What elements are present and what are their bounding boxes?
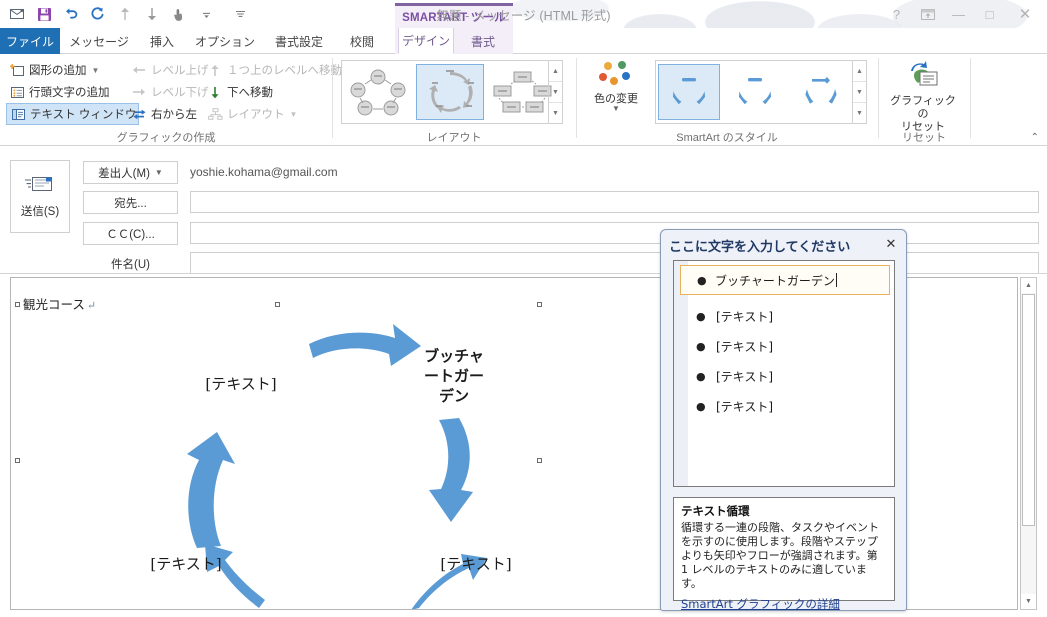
text-pane-item-1[interactable]: ● ブッチャートガーデン xyxy=(680,265,890,295)
layout-basic-cycle[interactable] xyxy=(344,64,412,120)
minimize-button[interactable]: — xyxy=(943,1,974,27)
move-down-button[interactable]: 下へ移動 xyxy=(204,81,344,103)
move-down-label: 下へ移動 xyxy=(227,84,273,100)
scrollbar-thumb[interactable] xyxy=(1022,294,1035,526)
description-body: 循環する一連の段階、タスクやイベントを示すのに使用します。段階やステップよりも矢… xyxy=(681,521,887,591)
move-down-icon xyxy=(206,83,224,101)
smartart-node-1-line1: ブッチャ xyxy=(399,346,509,366)
right-to-left-button[interactable]: 右から左 xyxy=(128,103,211,125)
selection-handle[interactable] xyxy=(275,302,280,307)
smartart-help-link[interactable]: SmartArt グラフィックの詳細 xyxy=(681,596,840,612)
layout-block-cycle[interactable] xyxy=(488,64,556,120)
text-pane-item-5-label: [テキスト] xyxy=(716,398,773,415)
move-up-label: １つ上のレベルへ移動 xyxy=(227,62,342,78)
text-cursor xyxy=(836,273,837,287)
demote-button: レベル下げ xyxy=(128,81,211,103)
group-label-reset: リセット xyxy=(879,129,969,145)
group-label-create-graphic: グラフィックの作成 xyxy=(0,129,332,145)
text-pane-button[interactable]: テキスト ウィンドウ xyxy=(6,103,139,125)
send-button-label: 送信(S) xyxy=(21,203,59,219)
text-pane-item-2-label: [テキスト] xyxy=(716,308,773,325)
gallery-more-icon[interactable]: ▼ xyxy=(549,103,562,123)
add-bullet-icon xyxy=(8,83,26,101)
move-up-button: １つ上のレベルへ移動 xyxy=(204,59,344,81)
gallery-scroll-up-icon[interactable]: ▲ xyxy=(853,61,866,82)
outlook-compose-window: SMARTART ツール xyxy=(0,0,1047,617)
to-button-label: 宛先... xyxy=(114,195,147,211)
description-title: テキスト循環 xyxy=(681,503,887,519)
touch-mode-icon[interactable] xyxy=(166,2,192,26)
from-value: yoshie.kohama@gmail.com xyxy=(190,161,338,183)
add-shape-button[interactable]: 図形の追加 ▼ xyxy=(6,59,139,81)
gallery-scroll-up-icon[interactable]: ▲ xyxy=(549,61,562,82)
demote-icon xyxy=(130,83,148,101)
reset-graphic-icon xyxy=(905,79,941,93)
chevron-down-icon[interactable]: ▼ xyxy=(585,105,647,113)
smartart-node-1-line2: ートガー xyxy=(399,366,509,386)
document-scrollbar[interactable]: ▲ ▼ xyxy=(1020,277,1037,610)
from-button[interactable]: 差出人(M) ▼ xyxy=(83,161,178,184)
title-bar: SMARTART ツール xyxy=(0,0,1047,28)
contextual-tools-banner: SMARTART ツール xyxy=(395,3,513,28)
layout-gallery-scrollbar[interactable]: ▲ ▼ ▼ xyxy=(548,61,562,123)
tab-format-text[interactable]: 書式設定 xyxy=(266,28,332,54)
style-subtle-effect[interactable] xyxy=(724,64,786,120)
window-controls: ? — □ ✕ xyxy=(881,0,1045,28)
layout-text-cycle[interactable] xyxy=(416,64,484,120)
tab-design[interactable]: デザイン xyxy=(398,28,454,54)
undo-icon[interactable] xyxy=(58,2,84,26)
maximize-button[interactable]: □ xyxy=(974,1,1005,27)
tab-format[interactable]: 書式 xyxy=(458,28,508,54)
color-palette-icon xyxy=(596,79,636,93)
bullet-icon: ● xyxy=(696,340,706,353)
smartart-node-1[interactable]: ブッチャ ートガー デン xyxy=(399,346,509,406)
collapse-ribbon-button[interactable]: ⌃ xyxy=(1031,132,1039,143)
reset-graphic-label-line1: グラフィックの xyxy=(885,95,961,121)
close-icon[interactable]: ✕ xyxy=(882,235,900,253)
tab-message[interactable]: メッセージ xyxy=(66,28,132,54)
promote-button: レベル上げ xyxy=(128,59,211,81)
tab-review[interactable]: 校閲 xyxy=(340,28,384,54)
smartart-node-5[interactable]: [テキスト] xyxy=(186,373,296,394)
to-input[interactable] xyxy=(190,191,1039,213)
layout-label: レイアウト xyxy=(227,106,285,122)
selection-handle[interactable] xyxy=(15,302,20,307)
send-envelope-icon xyxy=(25,174,55,197)
text-pane-item-5[interactable]: ● [テキスト] xyxy=(674,391,894,421)
layout-icon xyxy=(206,105,224,123)
text-pane-item-1-label: ブッチャートガーデン xyxy=(715,272,835,289)
text-pane-label: テキスト ウィンドウ xyxy=(30,106,136,122)
text-pane-item-4[interactable]: ● [テキスト] xyxy=(674,361,894,391)
subject-label: 件名(U) xyxy=(83,252,178,275)
smartart-node-4[interactable]: [テキスト] xyxy=(131,553,241,574)
bullet-icon: ● xyxy=(696,400,706,413)
tab-file[interactable]: ファイル xyxy=(0,28,60,54)
smartart-node-1-line3: デン xyxy=(399,386,509,406)
text-pane-list[interactable]: ● ブッチャートガーデン ● [テキスト] ● [テキスト] ● [テキスト] … xyxy=(673,260,895,487)
add-shape-label: 図形の追加 xyxy=(29,62,87,78)
chevron-down-icon: ▼ xyxy=(290,110,298,119)
close-button[interactable]: ✕ xyxy=(1005,1,1045,27)
style-moderate-effect[interactable] xyxy=(790,64,852,120)
demote-label: レベル下げ xyxy=(151,84,209,100)
text-pane-item-3-label: [テキスト] xyxy=(716,338,773,355)
move-up-icon xyxy=(206,61,224,79)
cc-input[interactable] xyxy=(190,222,1039,244)
text-pane-item-2[interactable]: ● [テキスト] xyxy=(674,301,894,331)
scroll-down-arrow[interactable]: ▼ xyxy=(1021,594,1036,609)
ribbon-group-create-graphic: 図形の追加 ▼ 行頭文字の追加 テキスト ウィンドウ xyxy=(0,54,332,146)
ribbon-group-reset: グラフィックの リセット リセット xyxy=(879,54,969,146)
gallery-scroll-down-icon[interactable]: ▼ xyxy=(853,82,866,103)
bullet-icon: ● xyxy=(697,274,707,287)
gallery-more-icon[interactable]: ▼ xyxy=(853,103,866,123)
ribbon: 図形の追加 ▼ 行頭文字の追加 テキスト ウィンドウ xyxy=(0,54,1047,146)
change-colors-button[interactable]: 色の変更 ▼ xyxy=(585,60,647,113)
send-button[interactable]: 送信(S) xyxy=(10,160,70,233)
right-to-left-icon xyxy=(130,105,148,123)
from-button-label: 差出人(M) xyxy=(98,165,150,181)
selection-handle[interactable] xyxy=(15,458,20,463)
ribbon-group-smartart-styles: 色の変更 ▼ xyxy=(577,54,877,146)
add-bullet-label: 行頭文字の追加 xyxy=(29,84,110,100)
styles-gallery-scrollbar[interactable]: ▲ ▼ ▼ xyxy=(852,61,866,123)
bullet-icon: ● xyxy=(696,310,706,323)
add-bullet-button[interactable]: 行頭文字の追加 xyxy=(6,81,139,103)
right-to-left-label: 右から左 xyxy=(151,106,197,122)
text-pane-title: ここに文字を入力してください xyxy=(669,236,876,256)
cc-button[interactable]: ＣＣ(C)... xyxy=(83,222,178,245)
layout-button: レイアウト ▼ xyxy=(204,103,344,125)
reset-graphic-button[interactable]: グラフィックの リセット xyxy=(885,60,961,134)
chevron-down-icon: ▼ xyxy=(155,168,163,177)
text-pane-icon xyxy=(9,105,27,123)
to-button[interactable]: 宛先... xyxy=(83,191,178,214)
customize-qat-icon[interactable] xyxy=(227,2,253,26)
previous-item-icon[interactable] xyxy=(112,2,138,26)
smartart-graphic[interactable]: ブッチャ ートガー デン [テキスト] [テキスト] [テキスト] xyxy=(21,308,541,610)
save-icon[interactable] xyxy=(31,2,57,26)
group-label-smartart-styles: SmartArt のスタイル xyxy=(577,129,877,145)
text-pane-item-3[interactable]: ● [テキスト] xyxy=(674,331,894,361)
subject-input[interactable] xyxy=(190,252,1039,274)
ribbon-group-layouts: ▲ ▼ ▼ レイアウト xyxy=(333,54,575,146)
ribbon-tab-strip: ファイル メッセージ 挿入 オプション 書式設定 校閲 デザイン 書式 xyxy=(0,28,1047,54)
group-label-layouts: レイアウト xyxy=(333,129,575,145)
style-simple-fill[interactable] xyxy=(658,64,720,120)
promote-label: レベル上げ xyxy=(151,62,209,78)
gallery-scroll-down-icon[interactable]: ▼ xyxy=(549,82,562,103)
chevron-down-icon: ▼ xyxy=(92,66,100,75)
quick-access-toolbar xyxy=(4,2,253,26)
help-icon[interactable]: ? xyxy=(881,1,912,27)
cc-button-label: ＣＣ(C)... xyxy=(106,226,155,242)
redo-icon[interactable] xyxy=(85,2,111,26)
envelope-icon[interactable] xyxy=(4,2,30,26)
add-shape-icon xyxy=(8,61,26,79)
scroll-up-arrow[interactable]: ▲ xyxy=(1021,278,1036,293)
text-pane-description: テキスト循環 循環する一連の段階、タスクやイベントを示すのに使用します。段階やス… xyxy=(673,497,895,601)
contextual-tools-label: SMARTART ツール xyxy=(402,9,506,25)
selection-handle[interactable] xyxy=(537,302,542,307)
promote-icon xyxy=(130,61,148,79)
ribbon-display-options-icon[interactable] xyxy=(912,1,943,27)
tab-options[interactable]: オプション xyxy=(192,28,258,54)
smartart-text-pane: ここに文字を入力してください ✕ ● ブッチャートガーデン ● [テキスト] ●… xyxy=(660,229,907,611)
smartart-node-2[interactable]: [テキスト] xyxy=(421,553,531,574)
text-pane-item-4-label: [テキスト] xyxy=(716,368,773,385)
tab-insert[interactable]: 挿入 xyxy=(140,28,184,54)
bullet-icon: ● xyxy=(696,370,706,383)
next-item-icon[interactable] xyxy=(139,2,165,26)
chevron-down-icon[interactable] xyxy=(193,2,219,26)
